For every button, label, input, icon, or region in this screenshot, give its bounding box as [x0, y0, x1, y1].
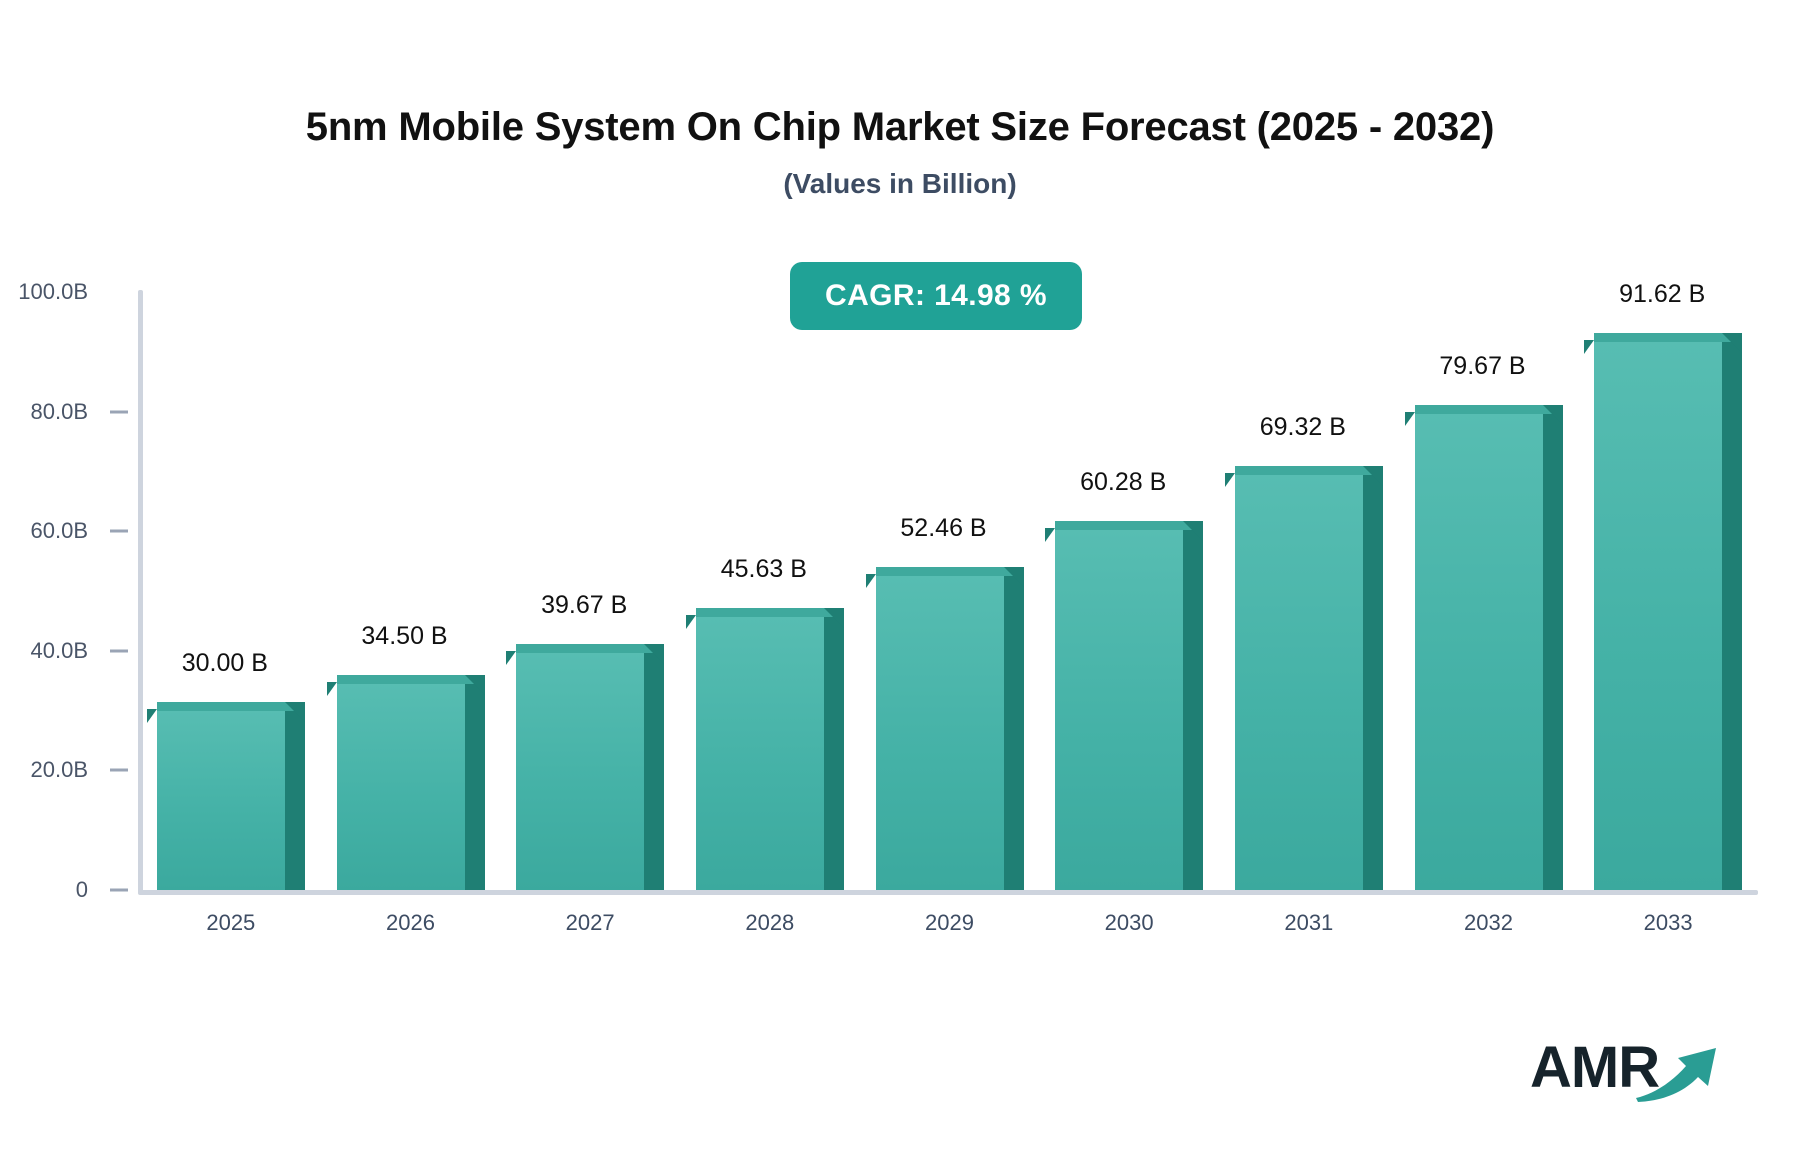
- y-axis-tick-mark: [110, 410, 128, 413]
- bar-front-face: [1055, 530, 1183, 890]
- y-axis-tick-label: 100.0B: [18, 279, 88, 305]
- bar-front-face: [1594, 342, 1722, 890]
- bar-left-bevel: [1405, 412, 1415, 426]
- bar-top-bevel: [1722, 333, 1742, 353]
- bar-front-face: [516, 653, 644, 890]
- y-axis-tick-label: 20.0B: [31, 757, 89, 783]
- bar-2031[interactable]: [1235, 455, 1363, 890]
- x-axis-tick-label: 2026: [386, 910, 435, 936]
- y-axis-tick-label: 0: [76, 877, 88, 903]
- bar-top-bevel: [465, 675, 485, 695]
- x-axis-tick-label: 2029: [925, 910, 974, 936]
- bar-left-bevel: [1225, 473, 1235, 487]
- bar-value-label: 79.67 B: [1439, 352, 1525, 381]
- x-axis-tick-label: 2030: [1105, 910, 1154, 936]
- y-axis-tick-label: 40.0B: [31, 638, 89, 664]
- bar-top-face: [696, 608, 844, 617]
- bar-left-bevel: [506, 651, 516, 665]
- bar-top-bevel: [285, 702, 305, 722]
- x-axis-tick-label: 2032: [1464, 910, 1513, 936]
- bar-2030[interactable]: [1055, 510, 1183, 890]
- y-axis-tick-label: 60.0B: [31, 518, 89, 544]
- trending-up-arrow-icon: [1634, 1040, 1726, 1102]
- bar-front-face: [1415, 414, 1543, 890]
- y-axis-line: [138, 290, 143, 894]
- plot-area: 020.0B40.0B60.0B80.0B100.0B 202520262027…: [0, 0, 1800, 1156]
- y-axis-tick-mark: [110, 530, 128, 533]
- bar-front-face: [696, 617, 824, 890]
- bar-value-label: 30.00 B: [182, 649, 268, 678]
- x-axis-tick-label: 2027: [566, 910, 615, 936]
- bar-top-face: [876, 567, 1024, 576]
- bar-front-face: [1235, 475, 1363, 890]
- bar-2028[interactable]: [696, 597, 824, 890]
- bar-side-face: [824, 617, 844, 890]
- bar-side-face: [644, 653, 664, 890]
- y-axis-tick-mark: [110, 769, 128, 772]
- chart-page: 5nm Mobile System On Chip Market Size Fo…: [0, 0, 1800, 1156]
- bar-side-face: [1543, 414, 1563, 890]
- bar-value-label: 39.67 B: [541, 591, 627, 620]
- bar-top-bevel: [1363, 466, 1383, 486]
- bar-value-label: 69.32 B: [1260, 413, 1346, 442]
- bar-top-face: [337, 675, 485, 684]
- bar-front-face: [337, 684, 465, 890]
- bar-front-face: [157, 711, 285, 890]
- bar-top-bevel: [824, 608, 844, 628]
- bar-value-label: 52.46 B: [900, 514, 986, 543]
- bar-left-bevel: [1584, 340, 1594, 354]
- bar-top-bevel: [644, 644, 664, 664]
- bar-top-bevel: [1004, 567, 1024, 587]
- y-axis-tick-label: 80.0B: [31, 399, 89, 425]
- bar-2029[interactable]: [876, 556, 1004, 890]
- y-axis-tick-mark: [110, 649, 128, 652]
- bar-2025[interactable]: [157, 691, 285, 890]
- bar-left-bevel: [327, 682, 337, 696]
- bar-left-bevel: [1045, 528, 1055, 542]
- bar-top-face: [1415, 405, 1563, 414]
- bar-side-face: [1004, 576, 1024, 890]
- bar-left-bevel: [866, 574, 876, 588]
- amr-logo: AMR: [1530, 1028, 1720, 1106]
- bar-top-face: [1055, 521, 1203, 530]
- bar-top-face: [516, 644, 664, 653]
- bar-side-face: [285, 711, 305, 890]
- bar-side-face: [1363, 475, 1383, 890]
- x-axis-tick-label: 2025: [206, 910, 255, 936]
- bar-top-face: [1594, 333, 1742, 342]
- x-axis-line: [138, 890, 1758, 895]
- bar-2032[interactable]: [1415, 394, 1543, 890]
- bar-value-label: 34.50 B: [361, 622, 447, 651]
- x-axis-tick-label: 2033: [1644, 910, 1693, 936]
- bar-top-bevel: [1183, 521, 1203, 541]
- bar-2027[interactable]: [516, 633, 644, 890]
- bar-top-face: [157, 702, 305, 711]
- bar-top-face: [1235, 466, 1383, 475]
- bar-side-face: [1722, 342, 1742, 890]
- bar-side-face: [465, 684, 485, 890]
- bar-value-label: 91.62 B: [1619, 280, 1705, 309]
- bar-left-bevel: [147, 709, 157, 723]
- x-axis-tick-label: 2028: [745, 910, 794, 936]
- bar-2026[interactable]: [337, 664, 465, 890]
- bar-top-bevel: [1543, 405, 1563, 425]
- bar-2033[interactable]: [1594, 322, 1722, 890]
- bar-value-label: 60.28 B: [1080, 468, 1166, 497]
- bar-left-bevel: [686, 615, 696, 629]
- bar-value-label: 45.63 B: [721, 555, 807, 584]
- y-axis-tick-mark: [110, 889, 128, 892]
- bar-front-face: [876, 576, 1004, 890]
- x-axis-tick-label: 2031: [1284, 910, 1333, 936]
- bar-side-face: [1183, 530, 1203, 890]
